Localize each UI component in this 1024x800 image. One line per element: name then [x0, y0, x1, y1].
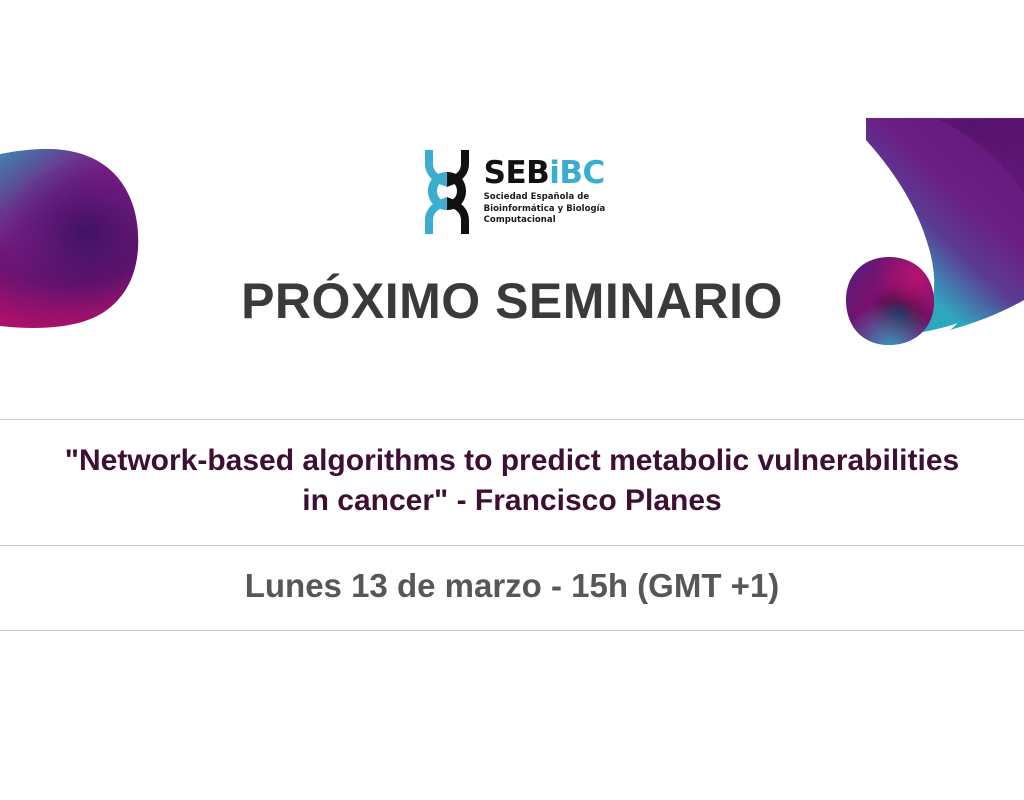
logo-wordmark-seb: SEB — [484, 155, 550, 191]
dna-helix-icon — [419, 148, 475, 236]
sebibc-logo: SEBiBC Sociedad Española de Bioinformáti… — [0, 148, 1024, 236]
divider-middle — [0, 545, 1024, 546]
logo-subtitle: Sociedad Española de Bioinformática y Bi… — [484, 192, 606, 226]
decorative-blobs-layer — [0, 0, 1024, 800]
divider-bottom — [0, 630, 1024, 631]
logo-text-block: SEBiBC Sociedad Española de Bioinformáti… — [484, 158, 606, 227]
seminar-datetime: Lunes 13 de marzo - 15h (GMT +1) — [0, 565, 1024, 606]
divider-top — [0, 419, 1024, 420]
seminar-poster: SEBiBC Sociedad Española de Bioinformáti… — [0, 0, 1024, 800]
logo-wordmark: SEBiBC — [484, 158, 605, 190]
logo-wordmark-bc: BC — [559, 155, 604, 191]
logo-wordmark-i: i — [549, 155, 559, 191]
page-title: PRÓXIMO SEMINARIO — [0, 274, 1024, 329]
seminar-title: "Network-based algorithms to predict met… — [62, 441, 962, 521]
